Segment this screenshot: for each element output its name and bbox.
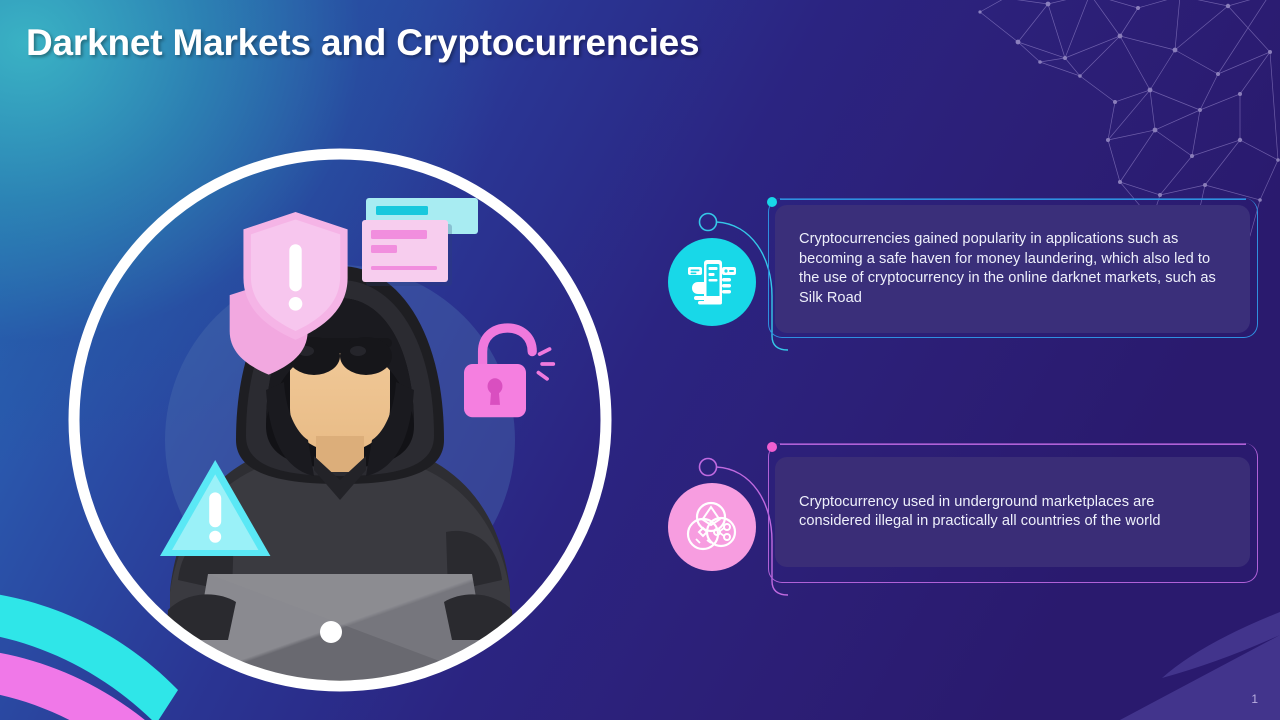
badge-hand-holding-phone [668, 238, 756, 326]
content-rows: Cryptocurrencies gained popularity in ap… [660, 200, 1260, 595]
message-card-pink-icon [362, 220, 452, 286]
info-card-text: Cryptocurrency used in underground marke… [799, 493, 1226, 532]
content-row-crypto-popularity: Cryptocurrencies gained popularity in ap… [660, 200, 1260, 350]
badge-crypto-coins [668, 483, 756, 571]
hand-holding-phone-icon [684, 254, 740, 310]
page-number: 1 [1251, 692, 1258, 706]
corner-wedge-decoration [1050, 600, 1280, 720]
info-card-text: Cryptocurrencies gained popularity in ap… [799, 230, 1226, 308]
page-title: Darknet Markets and Cryptocurrencies [26, 22, 699, 64]
slide-canvas: Darknet Markets and Cryptocurrencies [0, 0, 1280, 720]
card-accent-dot-pink [762, 437, 782, 457]
content-row-illegal-marketplaces: Cryptocurrency used in underground marke… [660, 445, 1260, 595]
hero-illustration [60, 140, 620, 700]
info-card-illegal-marketplaces: Cryptocurrency used in underground marke… [775, 457, 1250, 567]
crypto-coins-icon [683, 498, 741, 556]
info-card-crypto-popularity: Cryptocurrencies gained popularity in ap… [775, 205, 1250, 333]
